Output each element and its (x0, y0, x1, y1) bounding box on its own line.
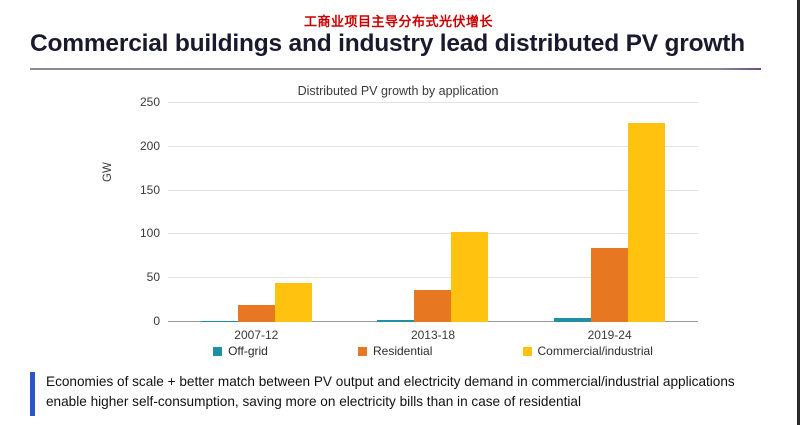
x-axis-tick: 2019-24 (535, 328, 685, 342)
bar-off-grid[interactable] (377, 320, 414, 322)
bar-off-grid[interactable] (554, 318, 591, 322)
y-axis-tick: 0 (153, 314, 160, 328)
bar-groups: 2007-122013-182019-24 (168, 103, 698, 322)
bar-residential[interactable] (238, 305, 275, 322)
chart: Distributed PV growth by application GW … (88, 82, 708, 367)
chart-title: Distributed PV growth by application (88, 84, 708, 98)
footer-text: Economies of scale + better match betwee… (46, 372, 765, 413)
bar-group: 2013-18 (358, 103, 508, 322)
bar-group: 2019-24 (535, 103, 685, 322)
footer-callout: Economies of scale + better match betwee… (30, 372, 765, 416)
accent-bar (30, 372, 35, 416)
bar-commercial-industrial[interactable] (628, 123, 665, 322)
plot-area: 050100150200250 2007-122013-182019-24 (168, 103, 698, 322)
legend-item[interactable]: Residential (358, 344, 432, 358)
y-axis-tick: 150 (140, 183, 160, 197)
x-axis-tick: 2013-18 (358, 328, 508, 342)
y-axis-tick: 50 (147, 270, 160, 284)
page-title: Commercial buildings and industry lead d… (30, 30, 745, 58)
title-divider (30, 68, 761, 70)
legend-swatch-icon (358, 347, 367, 356)
chart-legend: Off-gridResidentialCommercial/industrial (168, 344, 698, 358)
y-axis-tick: 200 (140, 139, 160, 153)
y-axis-tick: 100 (140, 226, 160, 240)
y-axis-tick: 250 (140, 95, 160, 109)
chinese-subtitle: 工商业项目主导分布式光伏增长 (0, 11, 797, 30)
bar-commercial-industrial[interactable] (451, 232, 488, 322)
legend-label: Commercial/industrial (538, 344, 653, 358)
bar-residential[interactable] (414, 290, 451, 322)
legend-label: Residential (373, 344, 432, 358)
bar-commercial-industrial[interactable] (275, 283, 312, 322)
legend-label: Off-grid (228, 344, 268, 358)
legend-item[interactable]: Off-grid (213, 344, 268, 358)
bar-group: 2007-12 (181, 103, 331, 322)
y-axis-label: GW (102, 162, 114, 182)
bar-residential[interactable] (591, 248, 628, 322)
legend-swatch-icon (523, 347, 532, 356)
legend-swatch-icon (213, 347, 222, 356)
slide: 工商业项目主导分布式光伏增长 Commercial buildings and … (0, 0, 800, 425)
x-axis-tick: 2007-12 (181, 328, 331, 342)
bar-off-grid[interactable] (201, 321, 238, 323)
legend-item[interactable]: Commercial/industrial (523, 344, 653, 358)
